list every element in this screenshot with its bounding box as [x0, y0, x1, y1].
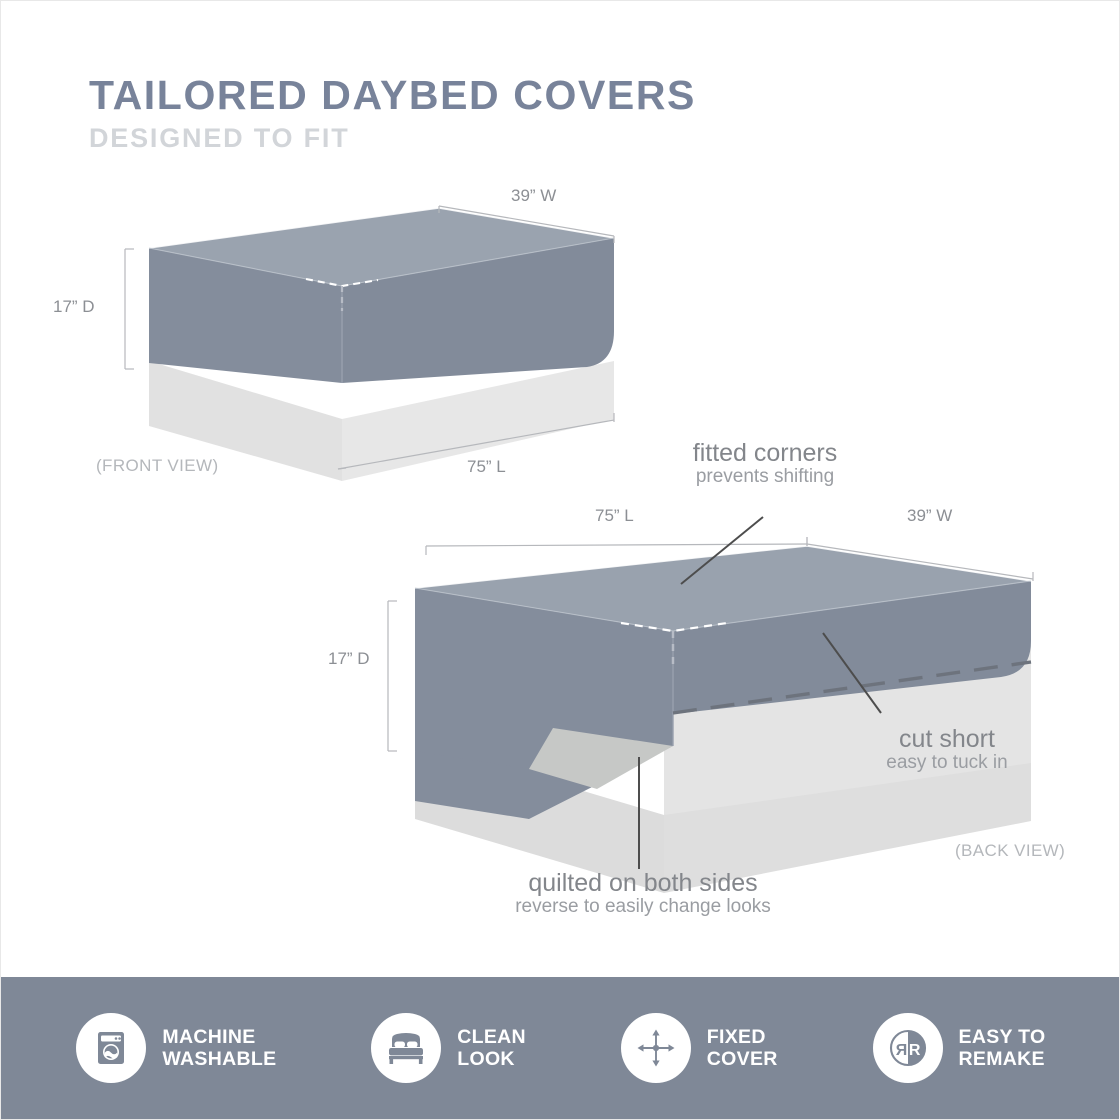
washing-machine-icon [89, 1026, 133, 1070]
reversible-r-icon: R R [885, 1025, 931, 1071]
dimension-depth-back [388, 601, 397, 751]
label-depth-front: 17” D [53, 297, 95, 317]
feature-fixed-cover-label: FIXED COVER [707, 1026, 778, 1071]
feature-machine-washable-label: MACHINE WASHABLE [162, 1026, 276, 1071]
feature-label-line1: CLEAN [457, 1026, 526, 1048]
bed-icon [383, 1025, 429, 1071]
label-front-view: (FRONT VIEW) [96, 456, 219, 476]
svg-text:R: R [908, 1042, 920, 1059]
callout-cut-short: cut short easy to tuck in [886, 727, 1007, 773]
svg-text:R: R [895, 1042, 907, 1059]
feature-fixed-cover: FIXED COVER [621, 1013, 778, 1083]
feature-easy-to-remake-label: EASY TO REMAKE [959, 1026, 1046, 1071]
feature-label-line1: EASY TO [959, 1026, 1046, 1048]
feature-label-line1: MACHINE [162, 1026, 276, 1048]
label-depth-back: 17” D [328, 649, 370, 669]
feature-clean-look-label: CLEAN LOOK [457, 1026, 526, 1071]
callout-quilted-sub: reverse to easily change looks [515, 897, 771, 918]
feature-label-line2: WASHABLE [162, 1048, 276, 1070]
daybed-diagrams-artwork [1, 1, 1120, 1120]
callout-cut-short-sub: easy to tuck in [886, 753, 1007, 774]
callout-fitted-corners-sub: prevents shifting [693, 467, 838, 488]
diagram-front-view [125, 206, 614, 481]
bed-badge [371, 1013, 441, 1083]
feature-label-line1: FIXED [707, 1026, 778, 1048]
callout-cut-short-title: cut short [886, 727, 1007, 753]
footer-feature-band: MACHINE WASHABLE CLEAN LOOK [1, 977, 1120, 1119]
diagram-back-view [388, 517, 1033, 893]
label-width-back: 39” W [907, 506, 952, 526]
infographic-page: TAILORED DAYBED COVERS DESIGNED TO FIT [0, 0, 1120, 1120]
label-length-back: 75” L [595, 506, 634, 526]
label-length-front: 75” L [467, 457, 506, 477]
four-way-arrows-badge [621, 1013, 691, 1083]
four-way-arrows-icon [634, 1026, 678, 1070]
dimension-depth-front [125, 249, 134, 369]
feature-easy-to-remake: R R EASY TO REMAKE [873, 1013, 1046, 1083]
callout-quilted: quilted on both sides reverse to easily … [515, 871, 771, 917]
feature-label-line2: REMAKE [959, 1048, 1046, 1070]
label-back-view: (BACK VIEW) [955, 841, 1065, 861]
feature-label-line2: LOOK [457, 1048, 526, 1070]
callout-fitted-corners-title: fitted corners [693, 441, 838, 467]
callout-fitted-corners: fitted corners prevents shifting [693, 441, 838, 487]
reversible-r-badge: R R [873, 1013, 943, 1083]
feature-machine-washable: MACHINE WASHABLE [76, 1013, 276, 1083]
washing-machine-badge [76, 1013, 146, 1083]
feature-clean-look: CLEAN LOOK [371, 1013, 526, 1083]
callout-quilted-title: quilted on both sides [515, 871, 771, 897]
label-width-front: 39” W [511, 186, 556, 206]
feature-label-line2: COVER [707, 1048, 778, 1070]
